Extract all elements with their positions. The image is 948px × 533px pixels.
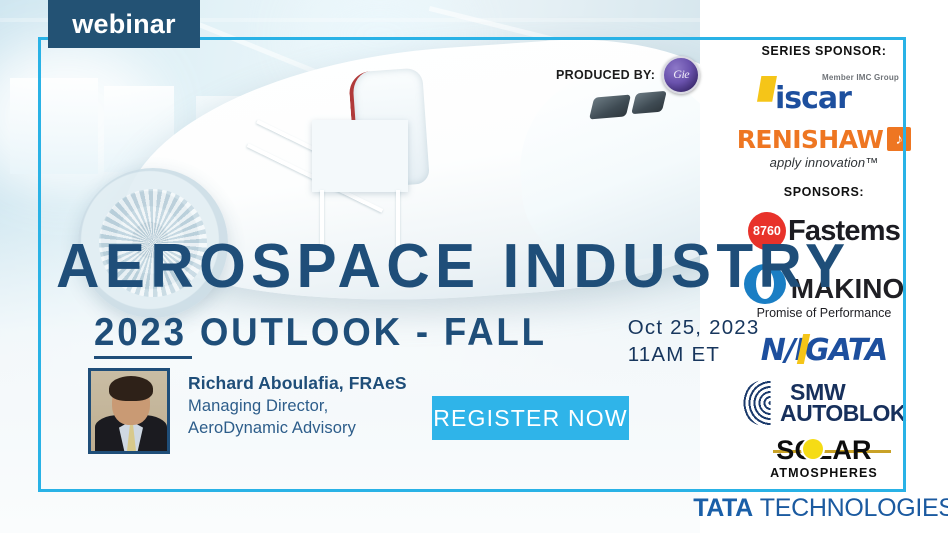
speaker-name: Richard Aboulafia, FRAeS — [188, 372, 407, 395]
solar-row: SOLAR — [776, 435, 872, 466]
renishaw-wordmark: RENISHAW — [737, 125, 883, 154]
iscar-flag-icon — [757, 76, 777, 102]
renishaw-tagline: apply innovation™ — [737, 155, 911, 170]
webinar-promo-poster: webinar PRODUCED BY: Gie AEROSPACE INDUS… — [0, 0, 948, 533]
smw-text: SMW AUTOBLOK — [790, 382, 906, 425]
webinar-badge-label: webinar — [72, 9, 175, 40]
webinar-badge: webinar — [48, 0, 200, 48]
register-now-button[interactable]: REGISTER NOW — [432, 396, 629, 440]
page-subtitle: 2023 OUTLOOK - FALL — [94, 312, 547, 353]
speaker-role-line1: Managing Director, — [188, 395, 407, 417]
gie-media-logo-icon: Gie — [662, 56, 700, 94]
gie-logo-text: Gie — [673, 69, 689, 80]
headline-block: AEROSPACE INDUSTRY 2023 OUTLOOK - FALL O… — [56, 236, 696, 370]
solar-wordmark: SOLAR — [776, 435, 872, 465]
speaker-avatar — [88, 368, 170, 454]
renishaw-mark-icon: ♪ — [887, 127, 911, 151]
event-datetime: Oct 25, 2023 11AM ET — [628, 312, 760, 368]
smw-line2: AUTOBLOK — [780, 400, 906, 426]
renishaw-logo: RENISHAW ♪ apply innovation™ — [737, 125, 911, 170]
event-time: 11AM ET — [628, 341, 760, 368]
iscar-logo: Member IMC Group iscar — [745, 73, 903, 113]
subtitle-row: 2023 OUTLOOK - FALL Oct 25, 2023 11AM ET — [56, 312, 696, 370]
niigata-logo: N/IGATA — [761, 333, 888, 368]
boarding-stairs-platform — [312, 120, 408, 192]
sponsor-solar-atmospheres[interactable]: SOLAR ATMOSPHERES — [700, 432, 948, 483]
sponsors-heading: SPONSORS: — [784, 185, 864, 199]
iscar-wordmark: iscar — [775, 81, 851, 116]
series-sponsor-renishaw[interactable]: RENISHAW ♪ apply innovation™ — [700, 119, 948, 174]
page-title: AEROSPACE INDUSTRY — [56, 236, 677, 298]
avatar-hair — [109, 376, 153, 401]
subtitle-wrap: 2023 OUTLOOK - FALL — [56, 312, 576, 353]
event-date: Oct 25, 2023 — [628, 314, 760, 341]
niigata-wordmark: N/IGATA — [761, 333, 888, 368]
sponsor-tata-technologies[interactable]: TATA TECHNOLOGIES — [700, 484, 948, 533]
series-sponsor-heading: SERIES SPONSOR: — [762, 44, 887, 58]
speaker-role-line2: AeroDynamic Advisory — [188, 417, 407, 439]
subtitle-underline — [94, 356, 192, 359]
speaker-block: Richard Aboulafia, FRAeS Managing Direct… — [88, 368, 407, 454]
renishaw-row: RENISHAW ♪ — [737, 125, 911, 154]
produced-by-label: PRODUCED BY: — [556, 68, 655, 82]
speaker-text: Richard Aboulafia, FRAeS Managing Direct… — [188, 368, 407, 439]
series-sponsor-iscar[interactable]: Member IMC Group iscar — [700, 66, 948, 119]
hangar-window — [10, 78, 98, 174]
sponsor-smw-autoblok[interactable]: SMW AUTOBLOK — [700, 375, 948, 432]
tata-technologies-logo: TATA TECHNOLOGIES — [693, 494, 948, 523]
solar-atmospheres-logo: SOLAR ATMOSPHERES — [770, 435, 878, 480]
makino-tagline: Promise of Performance — [744, 306, 905, 320]
produced-by: PRODUCED BY: Gie — [556, 56, 700, 94]
technologies-wordmark: TECHNOLOGIES — [760, 494, 948, 523]
solar-tagline: ATMOSPHERES — [770, 466, 878, 480]
tata-wordmark: TATA — [693, 494, 752, 523]
smw-autoblok-logo: SMW AUTOBLOK — [742, 380, 906, 426]
